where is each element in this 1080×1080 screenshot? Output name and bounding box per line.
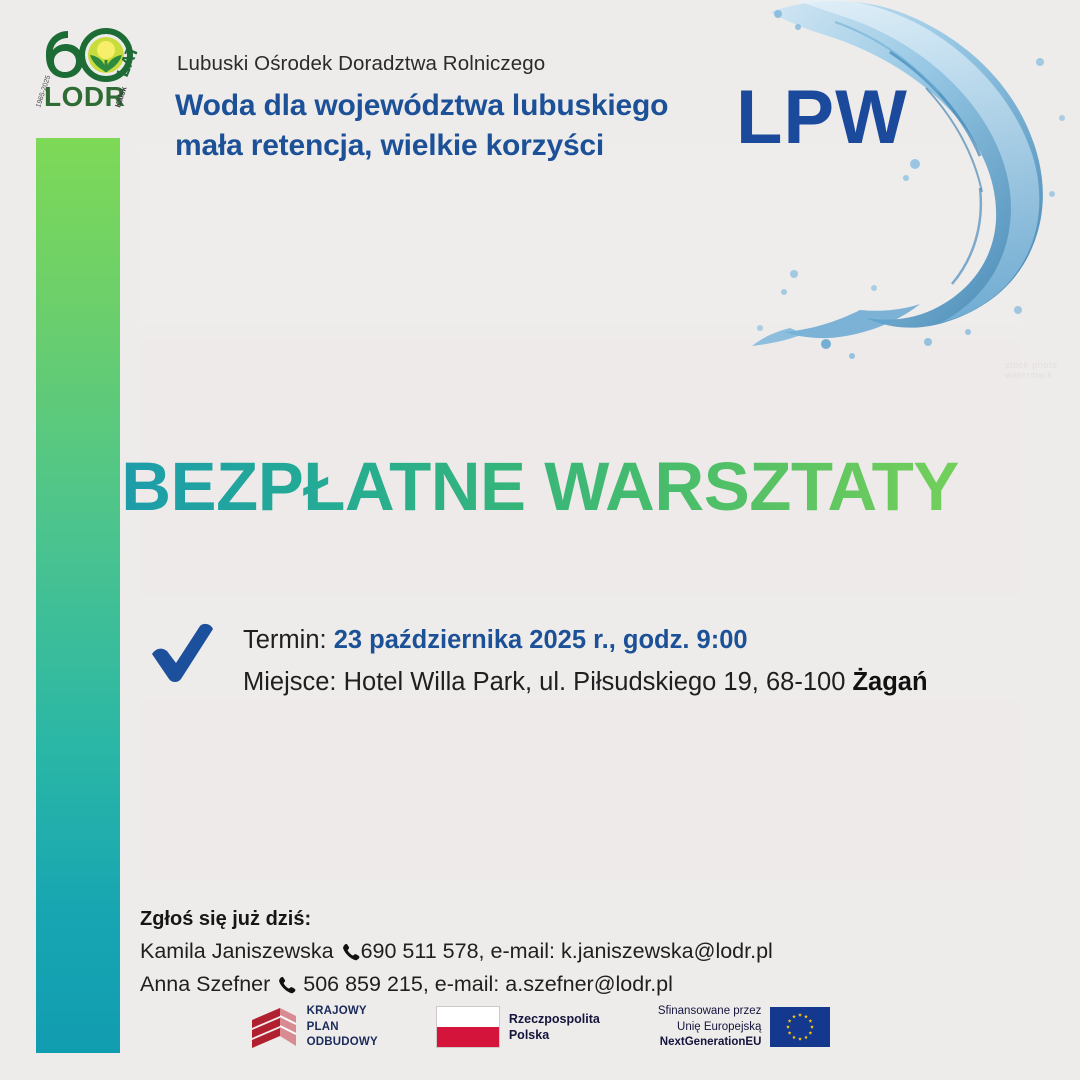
place-value: Hotel Willa Park, ul. Piłsudskiego 19, 6… [344, 668, 846, 696]
poster-canvas: LAT LODR 1965-2025 Kalsk Lubuski Ośrodek… [0, 0, 1080, 1080]
poland-line-1: Rzeczpospolita [509, 1011, 600, 1028]
poland-text: Rzeczpospolita Polska [509, 1011, 600, 1045]
left-gradient-bar [36, 138, 120, 1053]
contact-email-2[interactable]: a.szefner@lodr.pl [505, 972, 673, 996]
eu-line-1: Sfinansowane przez [658, 1004, 762, 1020]
contact-cta: Zgłoś się już dziś: [140, 908, 773, 931]
contact-email-label-1: e-mail: [490, 939, 555, 963]
kpo-building-icon [250, 1006, 298, 1048]
contact-sep-2: , [423, 972, 435, 996]
background-panel-top [140, 150, 1020, 325]
contact-block: Zgłoś się już dziś: Kamila Janiszewska 6… [140, 908, 773, 1000]
contact-name-2: Anna Szefner [140, 972, 270, 996]
footer-logos: KRAJOWY PLAN ODBUDOWY Rzeczpospolita Pol… [0, 1004, 1080, 1051]
headline-line-2: mała retencja, wielkie korzyści [175, 126, 735, 166]
place-city: Żagań [852, 668, 927, 696]
eu-logo: Sfinansowane przez Unię Europejską NextG… [658, 1004, 831, 1051]
event-details: Termin: 23 października 2025 r., godz. 9… [243, 620, 928, 703]
organization-name: Lubuski Ośrodek Doradztwa Rolniczego [177, 52, 545, 76]
background-panel-bottom [140, 700, 1020, 880]
phone-icon [277, 975, 296, 994]
place-label: Miejsce: [243, 668, 337, 696]
kpo-line-1: KRAJOWY [307, 1004, 378, 1020]
date-value: 23 października 2025 r., godz. 9:00 [334, 626, 748, 654]
poland-logo: Rzeczpospolita Polska [436, 1006, 600, 1048]
date-label: Termin: [243, 626, 327, 654]
contact-line-2: Anna Szefner 506 859 215, e-mail: a.szef… [140, 968, 773, 1001]
eu-line-3: NextGenerationEU [658, 1035, 762, 1051]
lodr-60-lat-logo: LAT LODR 1965-2025 Kalsk [28, 22, 144, 114]
kpo-line-2: PLAN [307, 1020, 378, 1036]
contact-sep-1: , [479, 939, 491, 963]
kpo-line-3: ODBUDOWY [307, 1035, 378, 1051]
lpw-wordmark: LPW [736, 80, 908, 156]
poland-flag-icon [436, 1006, 500, 1048]
water-splash-graphic [740, 0, 1080, 392]
eu-flag-icon [770, 1007, 830, 1047]
contact-email-label-2: e-mail: [435, 972, 500, 996]
contact-name-1: Kamila Janiszewska [140, 939, 334, 963]
contact-phone-1[interactable]: 690 511 578 [361, 939, 479, 963]
stock-watermark: stock photo watermark [1005, 360, 1080, 380]
eu-line-2: Unię Europejską [658, 1020, 762, 1036]
kpo-text: KRAJOWY PLAN ODBUDOWY [307, 1004, 378, 1051]
contact-email-1[interactable]: k.janiszewska@lodr.pl [561, 939, 773, 963]
svg-text:LODR: LODR [44, 81, 125, 112]
phone-icon [341, 942, 360, 961]
check-icon [148, 622, 218, 684]
contact-phone-2[interactable]: 506 859 215 [303, 972, 423, 996]
poland-line-2: Polska [509, 1027, 600, 1044]
kpo-logo: KRAJOWY PLAN ODBUDOWY [250, 1004, 378, 1051]
contact-line-1: Kamila Janiszewska 690 511 578, e-mail: … [140, 935, 773, 968]
main-title: BEZPŁATNE WARSZTATY [0, 452, 1080, 521]
event-date-row: Termin: 23 października 2025 r., godz. 9… [243, 620, 928, 662]
page-title: Woda dla województwa lubuskiego mała ret… [175, 86, 735, 165]
headline-line-1: Woda dla województwa lubuskiego [175, 89, 668, 122]
event-place-row: Miejsce: Hotel Willa Park, ul. Piłsudski… [243, 662, 928, 704]
eu-text: Sfinansowane przez Unię Europejską NextG… [658, 1004, 762, 1051]
